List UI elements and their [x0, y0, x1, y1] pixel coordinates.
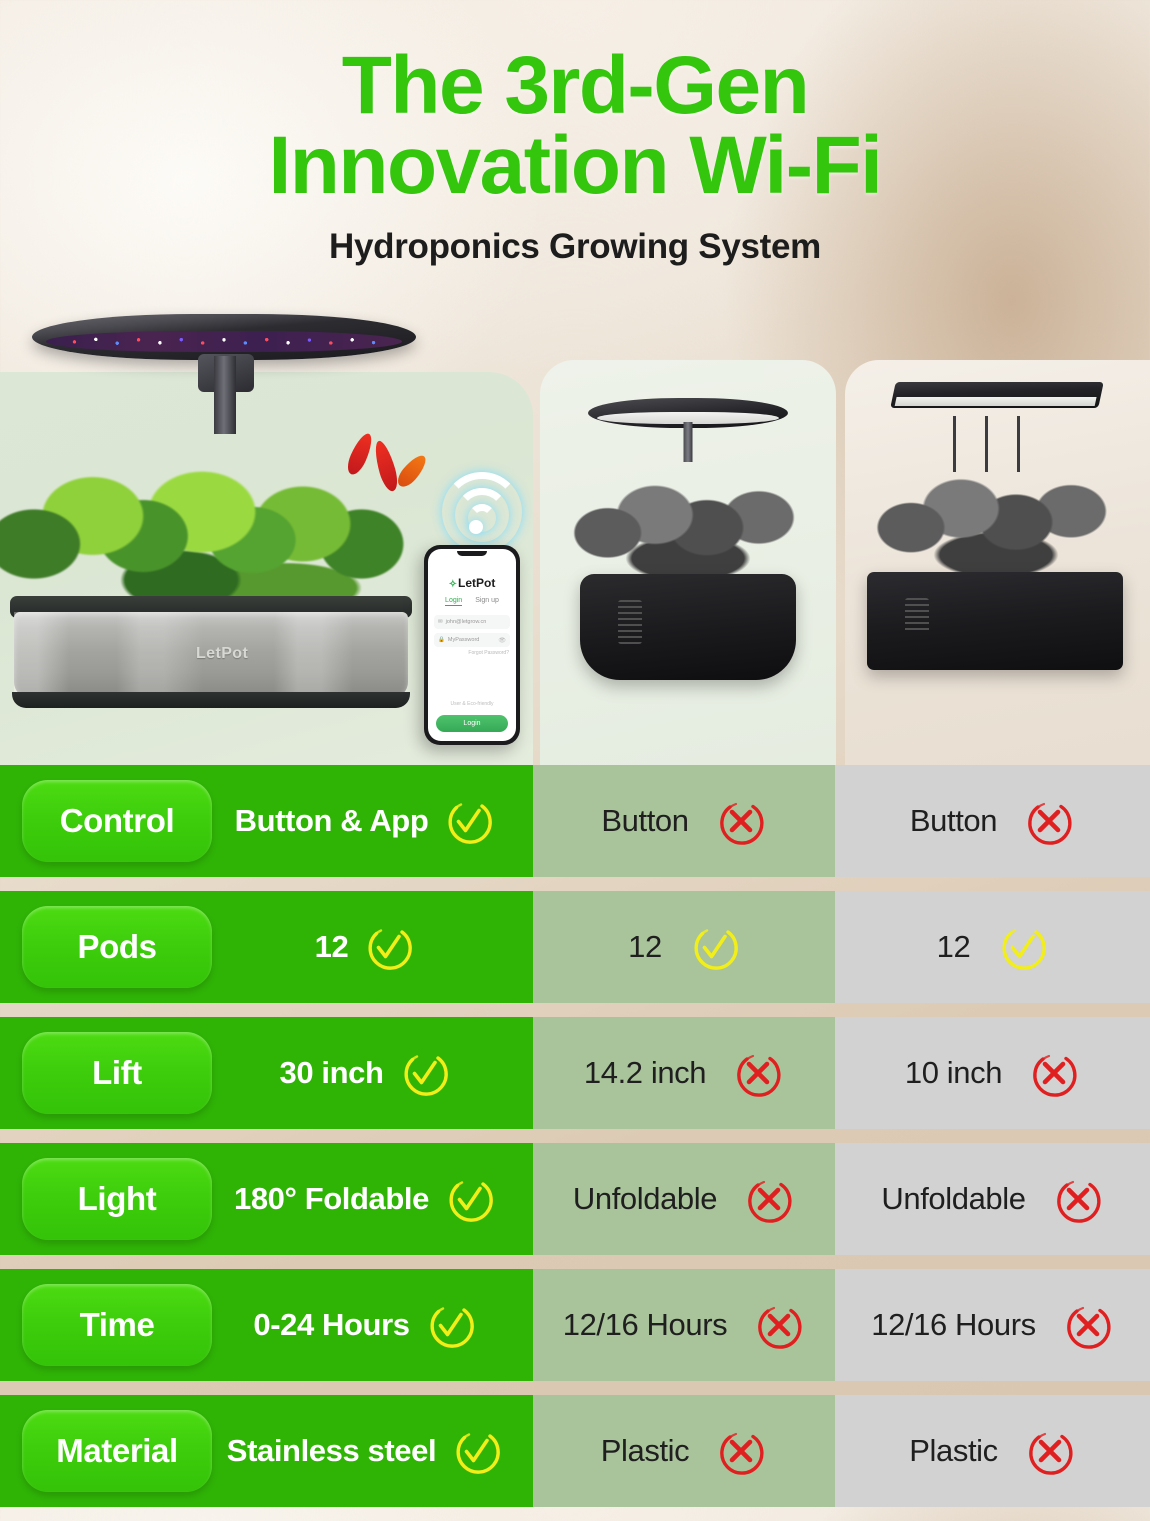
- table-row: ControlButton & AppButtonButton: [0, 765, 1150, 877]
- letpot-value: 12: [315, 929, 349, 965]
- letpot-check-icon: [398, 1047, 450, 1099]
- eco-note: User & Eco-friendly: [428, 701, 516, 707]
- letpot-check-icon: [443, 1173, 495, 1225]
- competitor-1-value: Unfoldable: [573, 1181, 717, 1217]
- letpot-value: Stainless steel: [227, 1433, 436, 1469]
- competitor-2-cross-icon: [1028, 1047, 1080, 1099]
- letpot-value-group: 180° Foldable: [212, 1173, 533, 1225]
- smartphone-mockup: ✧LetPot Login Sign up ✉ john@letgrow.cn …: [424, 545, 520, 745]
- feature-label-pill: Pods: [22, 906, 212, 988]
- title-line-2: Innovation Wi-Fi: [0, 126, 1150, 206]
- cell-competitor-1: 12: [533, 891, 835, 1003]
- competitor-1-value: 12/16 Hours: [563, 1307, 727, 1343]
- cell-competitor-2: Unfoldable: [835, 1143, 1150, 1255]
- cell-letpot: Lift30 inch: [0, 1017, 533, 1129]
- letpot-check-icon: [442, 795, 494, 847]
- competitor-1-cross-icon: [715, 795, 767, 847]
- table-row: Time0-24 Hours12/16 Hours12/16 Hours: [0, 1269, 1150, 1381]
- phone-notch: [457, 551, 487, 556]
- cell-competitor-2: Plastic: [835, 1395, 1150, 1507]
- competitor-2-value: 12/16 Hours: [871, 1307, 1035, 1343]
- title-line-1: The 3rd-Gen: [342, 40, 808, 131]
- hero-product-render: LetPot ✧LetPot Login Sign up ✉ john@let: [0, 300, 533, 765]
- competitor-2-value: Plastic: [909, 1433, 998, 1469]
- competitor-1-cross-icon: [743, 1173, 795, 1225]
- page-header: The 3rd-Gen Innovation Wi-Fi Hydroponics…: [0, 0, 1150, 300]
- lock-icon: 🔒: [438, 637, 445, 643]
- competitor-1-plants: [570, 456, 806, 584]
- cell-competitor-1: Button: [533, 765, 835, 877]
- competitor-2-plants: [871, 446, 1121, 582]
- competitor-2-cross-icon: [1024, 1425, 1076, 1477]
- competitor-1-value: Button: [601, 803, 688, 839]
- cell-competitor-2: 12/16 Hours: [835, 1269, 1150, 1381]
- password-field[interactable]: 🔒 MyPassword 👁: [434, 633, 510, 647]
- page-subtitle: Hydroponics Growing System: [0, 227, 1150, 267]
- email-value: john@letgrow.cn: [446, 619, 487, 625]
- cell-letpot: MaterialStainless steel: [0, 1395, 533, 1507]
- table-row: Pods121212: [0, 891, 1150, 1003]
- feature-label-pill: Material: [22, 1410, 212, 1492]
- competitor-1-value: 12: [628, 929, 662, 965]
- feature-label-pill: Lift: [22, 1032, 212, 1114]
- envelope-icon: ✉: [438, 619, 443, 625]
- competitor-1-check-icon: [688, 921, 740, 973]
- eye-icon[interactable]: 👁: [498, 637, 506, 644]
- competitor-2-control-panel: [905, 598, 929, 634]
- letpot-value: Button & App: [235, 803, 429, 839]
- feature-label-pill: Control: [22, 780, 212, 862]
- cell-letpot: Light180° Foldable: [0, 1143, 533, 1255]
- competitor-1-value: 14.2 inch: [584, 1055, 706, 1091]
- competitor-2-light-icon: [890, 382, 1104, 408]
- letpot-check-icon: [424, 1299, 476, 1351]
- competitor-2-photo: [845, 360, 1150, 765]
- competitor-2-value: Button: [910, 803, 997, 839]
- competitor-1-base: [580, 574, 796, 680]
- letpot-value-group: 0-24 Hours: [212, 1299, 533, 1351]
- forgot-password-link[interactable]: Forgot Password?: [468, 650, 509, 656]
- competitor-1-cross-icon: [715, 1425, 767, 1477]
- competitor-1-control-panel: [618, 600, 642, 644]
- letpot-value: 0-24 Hours: [253, 1307, 409, 1343]
- cell-competitor-1: 12/16 Hours: [533, 1269, 835, 1381]
- letpot-value: 30 inch: [279, 1055, 383, 1091]
- tab-login[interactable]: Login: [445, 597, 462, 606]
- login-button[interactable]: Login: [436, 715, 508, 732]
- leaf-icon: ✧: [449, 579, 457, 590]
- competitor-2-value: 10 inch: [905, 1055, 1002, 1091]
- wifi-dot: [469, 520, 483, 534]
- competitor-2-value: 12: [937, 929, 971, 965]
- comparison-table: ControlButton & AppButtonButtonPods12121…: [0, 765, 1150, 1521]
- competitor-1-cross-icon: [732, 1047, 784, 1099]
- cell-competitor-2: Button: [835, 765, 1150, 877]
- competitor-2-cross-icon: [1062, 1299, 1114, 1351]
- cell-competitor-1: Unfoldable: [533, 1143, 835, 1255]
- planter-foot: [12, 692, 410, 708]
- cell-competitor-1: Plastic: [533, 1395, 835, 1507]
- table-row: Lift30 inch14.2 inch10 inch: [0, 1017, 1150, 1129]
- product-brand-label: LetPot: [196, 645, 248, 663]
- letpot-check-icon: [362, 921, 414, 973]
- cell-letpot: Pods12: [0, 891, 533, 1003]
- letpot-check-icon: [450, 1425, 502, 1477]
- letpot-value-group: 12: [212, 921, 533, 973]
- letpot-value: 180° Foldable: [234, 1181, 429, 1217]
- feature-label-pill: Time: [22, 1284, 212, 1366]
- app-logo-text: LetPot: [458, 576, 495, 590]
- wifi-icon: [440, 468, 524, 530]
- competitor-1-value: Plastic: [601, 1433, 690, 1469]
- product-photo-strip: LetPot ✧LetPot Login Sign up ✉ john@let: [0, 300, 1150, 765]
- cell-competitor-2: 12: [835, 891, 1150, 1003]
- cell-competitor-1: 14.2 inch: [533, 1017, 835, 1129]
- cell-letpot: Time0-24 Hours: [0, 1269, 533, 1381]
- letpot-value-group: 30 inch: [212, 1047, 533, 1099]
- competitor-2-cross-icon: [1052, 1173, 1104, 1225]
- table-row: Light180° FoldableUnfoldableUnfoldable: [0, 1143, 1150, 1255]
- cell-competitor-2: 10 inch: [835, 1017, 1150, 1129]
- tab-signup[interactable]: Sign up: [475, 597, 499, 606]
- password-value: MyPassword: [448, 637, 479, 643]
- competitor-2-value: Unfoldable: [881, 1181, 1025, 1217]
- plants-illustration: [0, 412, 412, 612]
- table-row: MaterialStainless steelPlasticPlastic: [0, 1395, 1150, 1507]
- led-diodes: [46, 331, 402, 352]
- app-logo: ✧LetPot: [428, 576, 516, 590]
- competitor-2-cross-icon: [1023, 795, 1075, 847]
- email-field[interactable]: ✉ john@letgrow.cn: [434, 615, 510, 629]
- cell-letpot: ControlButton & App: [0, 765, 533, 877]
- page-title: The 3rd-Gen Innovation Wi-Fi: [0, 0, 1150, 207]
- letpot-value-group: Stainless steel: [212, 1425, 533, 1477]
- competitor-1-photo: [540, 360, 836, 765]
- competitor-1-cross-icon: [753, 1299, 805, 1351]
- feature-label-pill: Light: [22, 1158, 212, 1240]
- app-screen: ✧LetPot Login Sign up ✉ john@letgrow.cn …: [428, 549, 516, 741]
- competitor-2-check-icon: [996, 921, 1048, 973]
- app-auth-tabs: Login Sign up: [428, 597, 516, 606]
- letpot-value-group: Button & App: [212, 795, 533, 847]
